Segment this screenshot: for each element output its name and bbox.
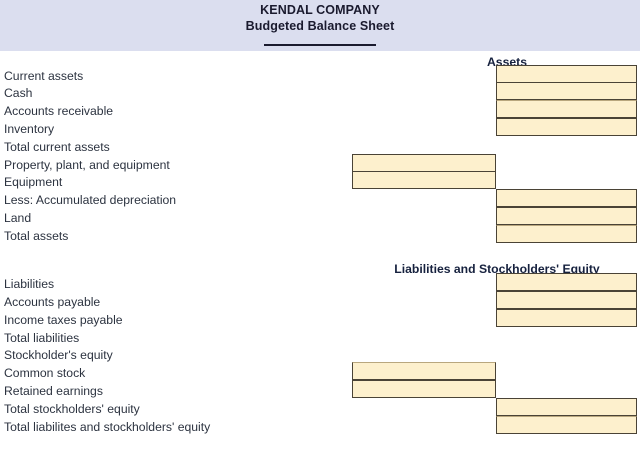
report-title: Budgeted Balance Sheet <box>0 19 640 33</box>
amount-input-cell[interactable] <box>496 118 637 136</box>
row-label: Total liabilites and stockholders' equit… <box>4 420 210 434</box>
report-header-band: KENDAL COMPANY Budgeted Balance Sheet <box>0 0 640 51</box>
row-label: Total current assets <box>4 140 110 154</box>
company-name: KENDAL COMPANY <box>0 3 640 17</box>
row-label: Income taxes payable <box>4 313 123 327</box>
row-label: Common stock <box>4 366 85 380</box>
row-label: Accounts payable <box>4 295 100 309</box>
amount-input-cell[interactable] <box>352 380 496 398</box>
row-label: Inventory <box>4 122 54 136</box>
amount-input-cell[interactable] <box>496 273 637 291</box>
balance-sheet-body: Assets Liabilities and Stockholders' Equ… <box>0 51 640 450</box>
row-label: Retained earnings <box>4 384 103 398</box>
row-label: Total stockholders' equity <box>4 402 140 416</box>
row-label: Total assets <box>4 229 68 243</box>
amount-input-cell[interactable] <box>496 291 637 309</box>
row-label: Property, plant, and equipment <box>4 158 170 172</box>
row-label: Liabilities <box>4 277 54 291</box>
row-label: Current assets <box>4 69 83 83</box>
row-label: Accounts receivable <box>4 104 113 118</box>
amount-input-cell[interactable] <box>352 362 496 380</box>
amount-input-cell[interactable] <box>496 207 637 225</box>
amount-input-cell[interactable] <box>496 100 637 118</box>
amount-input-cell[interactable] <box>496 65 637 83</box>
amount-input-cell[interactable] <box>496 398 637 416</box>
amount-input-cell[interactable] <box>496 82 637 100</box>
row-label: Cash <box>4 86 32 100</box>
amount-input-cell[interactable] <box>496 416 637 434</box>
title-underline-rule <box>264 44 376 46</box>
row-label: Equipment <box>4 175 62 189</box>
row-label: Less: Accumulated depreciation <box>4 193 176 207</box>
amount-input-cell[interactable] <box>496 225 637 243</box>
amount-input-cell[interactable] <box>352 154 496 172</box>
row-label: Total liabilities <box>4 331 79 345</box>
amount-input-cell[interactable] <box>496 189 637 207</box>
row-label: Land <box>4 211 31 225</box>
row-label: Stockholder's equity <box>4 348 113 362</box>
amount-input-cell[interactable] <box>352 171 496 189</box>
amount-input-cell[interactable] <box>496 309 637 327</box>
